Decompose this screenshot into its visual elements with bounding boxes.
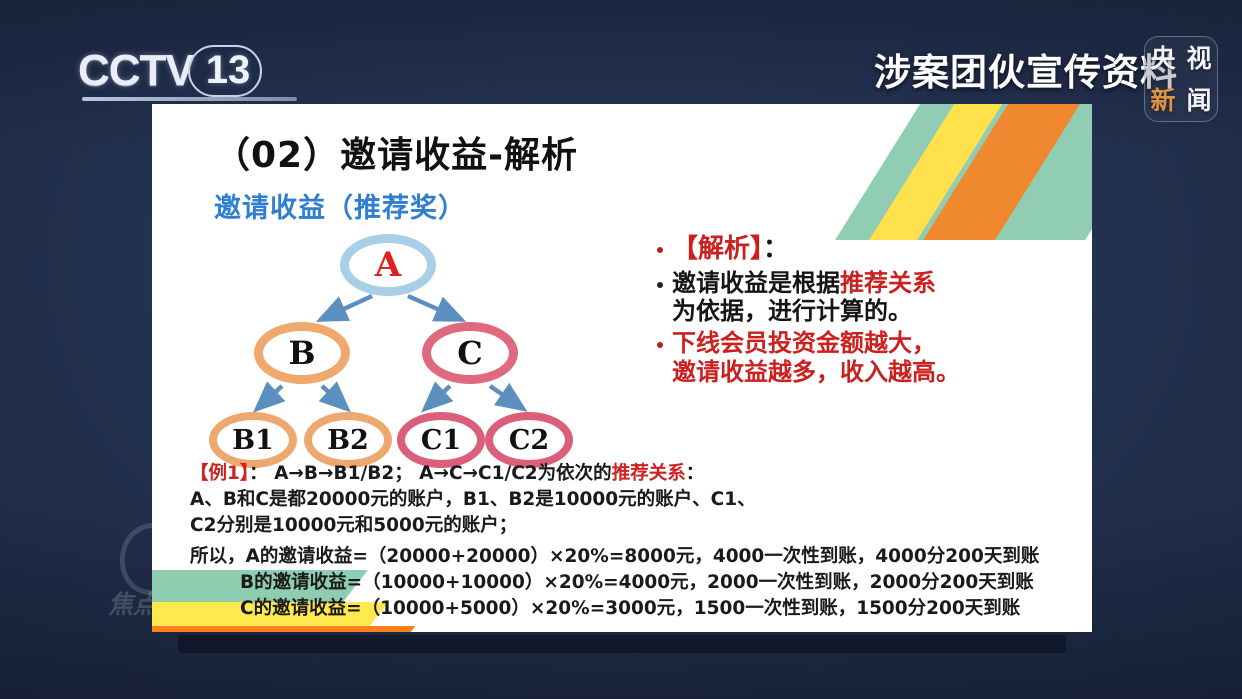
- bullet-item-incentive: 下线会员投资金额越大，邀请收益越多，收入越高。: [657, 329, 1042, 386]
- bullet-analysis-label: 【解析】：: [672, 234, 789, 265]
- calc-line-c: C的邀请收益=（10000+5000）×20%=3000元，1500一次性到账，…: [190, 597, 1080, 622]
- bullet-rule-pre: 邀请收益是根据: [672, 269, 840, 297]
- tree-node-b2[interactable]: B2: [304, 412, 392, 468]
- example-line1-highlight: 推荐关系: [612, 463, 686, 484]
- tree-node-b[interactable]: B: [254, 322, 350, 384]
- cctv-logo-number: 13: [188, 45, 263, 97]
- headline-text: 涉案团伙宣传资料: [874, 42, 1178, 96]
- example-line-2: A、B和C是都20000元的账户，B1、B2是10000元的账户、C1、: [190, 488, 1080, 513]
- tree-node-c2[interactable]: C2: [485, 412, 573, 468]
- bullet-analysis-label-red: 【解析】: [672, 234, 763, 264]
- example-calculations: 所以，A的邀请收益=（20000+20000）×20%=8000元，4000一次…: [190, 545, 1080, 621]
- calc-line-b-text: B的邀请收益=（10000+10000）×20%=4000元，2000一次性到账…: [240, 572, 1034, 593]
- bullet-rule-line2: 为依据，进行计算的。: [672, 297, 912, 325]
- cctv-logo-text: CCTV: [78, 46, 194, 96]
- example-tag: 【例1】: [190, 463, 249, 484]
- calc-line-b: B的邀请收益=（10000+10000）×20%=4000元，2000一次性到账…: [190, 571, 1080, 596]
- bullet-incentive-line2: 邀请收益越多，收入越高。: [672, 358, 960, 386]
- bullet-item-analysis-header: 【解析】：: [657, 234, 1042, 265]
- ribbon-bottom-orange: [152, 626, 415, 632]
- example-explanation: 【例1】： A→B→B1/B2； A→C→C1/C2为依次的推荐关系： A、B和…: [190, 462, 1080, 623]
- example-line-1: 【例1】： A→B→B1/B2； A→C→C1/C2为依次的推荐关系：: [190, 462, 1080, 487]
- slide-title: （02）邀请收益-解析: [214, 126, 578, 178]
- watermark-char-xin: 新: [1150, 88, 1175, 113]
- slide-shadow: [178, 635, 1066, 653]
- bullet-rule-highlight: 推荐关系: [840, 269, 936, 297]
- watermark-char-wen: 闻: [1186, 88, 1211, 113]
- bullet-dot-icon: [657, 247, 663, 253]
- bullet-incentive-text: 下线会员投资金额越大，邀请收益越多，收入越高。: [672, 329, 960, 386]
- tree-node-c1[interactable]: C1: [397, 412, 485, 468]
- example-line1-a: ： A→B→B1/B2； A→C→C1/C2为依次的: [249, 463, 612, 484]
- calc-line-a: 所以，A的邀请收益=（20000+20000）×20%=8000元，4000一次…: [190, 545, 1080, 570]
- bullet-item-rule: 邀请收益是根据推荐关系为依据，进行计算的。: [657, 269, 1042, 326]
- bullet-rule-text: 邀请收益是根据推荐关系为依据，进行计算的。: [672, 269, 936, 326]
- presentation-slide: （02）邀请收益-解析 邀请收益（推荐奖） A B C B1 B2 C1 C2: [152, 104, 1092, 632]
- bullet-dot-icon: [657, 282, 663, 288]
- example-line-3: C2分别是10000元和5000元的账户；: [190, 514, 1080, 539]
- calc-line-c-text: C的邀请收益=（10000+5000）×20%=3000元，1500一次性到账，…: [240, 598, 1020, 619]
- slide-subtitle: 邀请收益（推荐奖）: [214, 186, 466, 225]
- example-line1-end: ：: [686, 463, 705, 484]
- tree-node-a[interactable]: A: [340, 234, 436, 296]
- analysis-bullet-list: 【解析】： 邀请收益是根据推荐关系为依据，进行计算的。 下线会员投资金额越大，邀…: [657, 234, 1042, 390]
- bullet-dot-icon: [657, 342, 663, 348]
- bullet-incentive-line1: 下线会员投资金额越大，: [672, 329, 936, 357]
- watermark-char-yang: 央: [1150, 46, 1175, 71]
- tree-node-c[interactable]: C: [422, 322, 518, 384]
- bullet-analysis-label-colon: ：: [763, 234, 789, 264]
- tree-node-b1[interactable]: B1: [209, 412, 297, 468]
- watermark-char-shi: 视: [1186, 46, 1211, 71]
- cctv-logo-main: CCTV 13: [78, 45, 262, 97]
- cctv-news-watermark: 央 视 新 闻: [1144, 36, 1218, 122]
